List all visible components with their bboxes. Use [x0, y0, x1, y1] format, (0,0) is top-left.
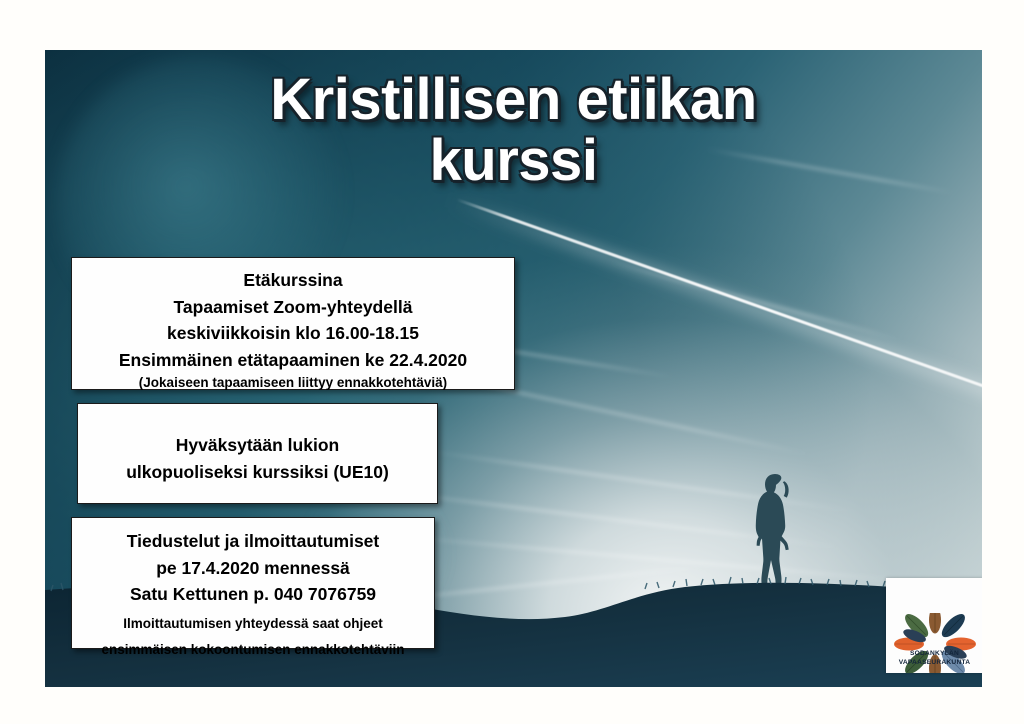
info-box-etakurssina: Etäkurssina Tapaamiset Zoom-yhteydellä k… — [71, 257, 515, 390]
info-line: Etäkurssina — [72, 267, 514, 294]
poster-canvas: Kristillisen etiikan kurssi Etäkurssina … — [45, 50, 982, 687]
logo-caption: SODANKYLÄN VAPAASEURAKUNTA — [886, 650, 982, 668]
info-line: Tiedustelut ja ilmoittautumiset — [72, 528, 434, 555]
organization-logo: SODANKYLÄN VAPAASEURAKUNTA — [886, 578, 982, 673]
poster-page: Kristillisen etiikan kurssi Etäkurssina … — [0, 0, 1024, 724]
info-line: keskiviikkoisin klo 16.00-18.15 — [72, 320, 514, 347]
logo-caption-line-2: VAPAASEURAKUNTA — [886, 659, 982, 668]
info-line: Tapaamiset Zoom-yhteydellä — [72, 294, 514, 321]
logo-caption-line-1: SODANKYLÄN — [886, 650, 982, 659]
info-line: ensimmäisen kokoontumisen ennakkotehtävi… — [72, 640, 434, 660]
info-line: Satu Kettunen p. 040 7076759 — [72, 581, 434, 608]
info-line: Ilmoittautumisen yhteydessä saat ohjeet — [72, 614, 434, 634]
info-line: (Jokaiseen tapaamiseen liittyy ennakkote… — [72, 373, 514, 393]
info-line: pe 17.4.2020 mennessä — [72, 555, 434, 582]
info-line: Ensimmäinen etätapaaminen ke 22.4.2020 — [72, 347, 514, 374]
info-box-lukio-hyvaksynta: Hyväksytään lukion ulkopuoliseksi kurssi… — [77, 403, 438, 504]
info-line: ulkopuoliseksi kurssiksi (UE10) — [78, 459, 437, 486]
info-line: Hyväksytään lukion — [78, 432, 437, 459]
info-box-ilmoittautuminen: Tiedustelut ja ilmoittautumiset pe 17.4.… — [71, 517, 435, 649]
